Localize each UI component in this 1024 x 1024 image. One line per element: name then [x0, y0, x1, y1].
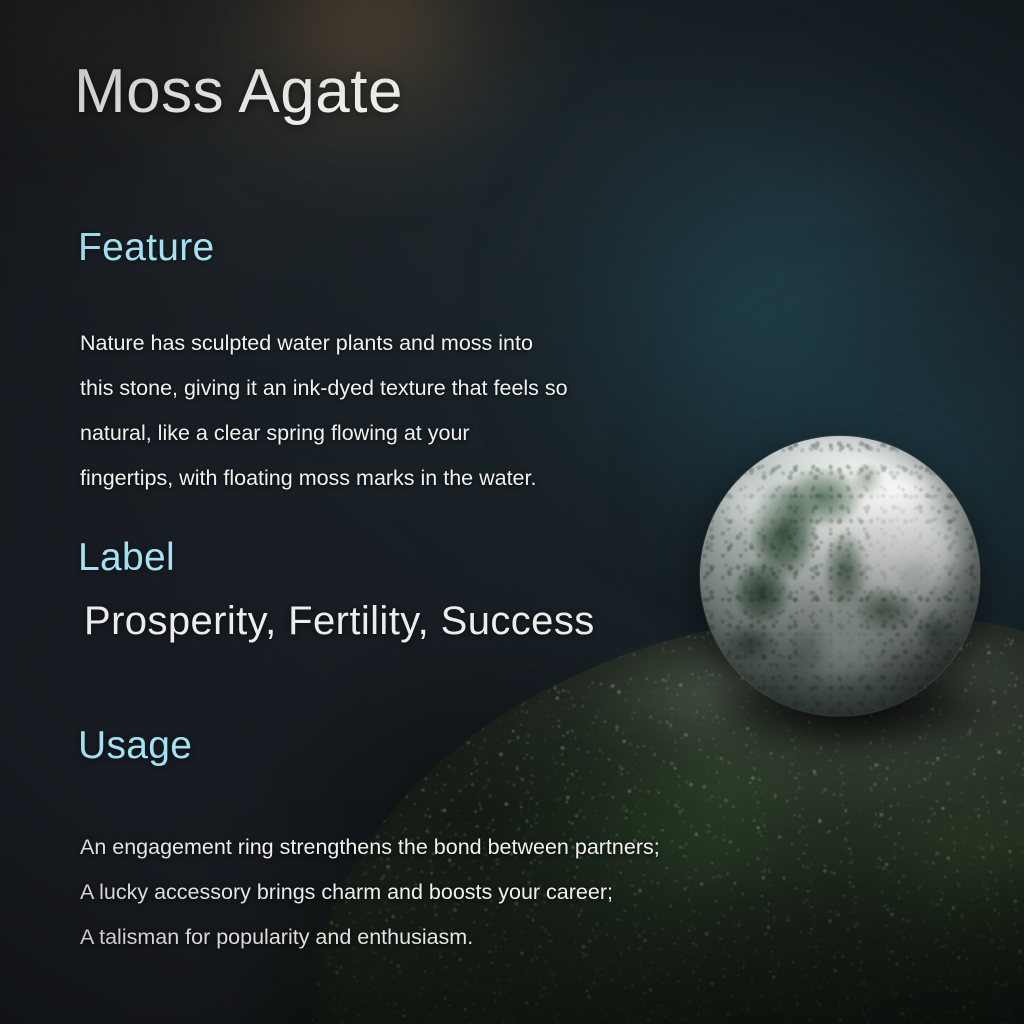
- label-value: Prosperity, Fertility, Success: [84, 599, 595, 644]
- section-feature: Feature Nature has sculpted water plants…: [78, 228, 568, 501]
- feature-paragraph: Nature has sculpted water plants and mos…: [80, 321, 568, 501]
- page-title: Moss Agate: [74, 56, 403, 127]
- section-heading-label: Label: [78, 538, 595, 577]
- section-label: Label Prosperity, Fertility, Success: [78, 538, 595, 644]
- section-usage: Usage An engagement ring strengthens the…: [78, 726, 660, 960]
- usage-line-2: A lucky accessory brings charm and boost…: [80, 870, 660, 915]
- section-heading-usage: Usage: [78, 726, 660, 765]
- card-content: Moss Agate Feature Nature has sculpted w…: [0, 0, 1024, 1024]
- usage-line-3: A talisman for popularity and enthusiasm…: [80, 915, 660, 960]
- feature-line-3: natural, like a clear spring flowing at …: [80, 411, 568, 456]
- feature-line-1: Nature has sculpted water plants and mos…: [80, 321, 568, 366]
- usage-paragraph: An engagement ring strengthens the bond …: [80, 825, 660, 960]
- usage-line-1: An engagement ring strengthens the bond …: [80, 825, 660, 870]
- section-heading-feature: Feature: [78, 228, 568, 267]
- feature-line-4: fingertips, with floating moss marks in …: [80, 456, 568, 501]
- feature-line-2: this stone, giving it an ink-dyed textur…: [80, 366, 568, 411]
- moss-agate-info-card: Moss Agate Feature Nature has sculpted w…: [0, 0, 1024, 1024]
